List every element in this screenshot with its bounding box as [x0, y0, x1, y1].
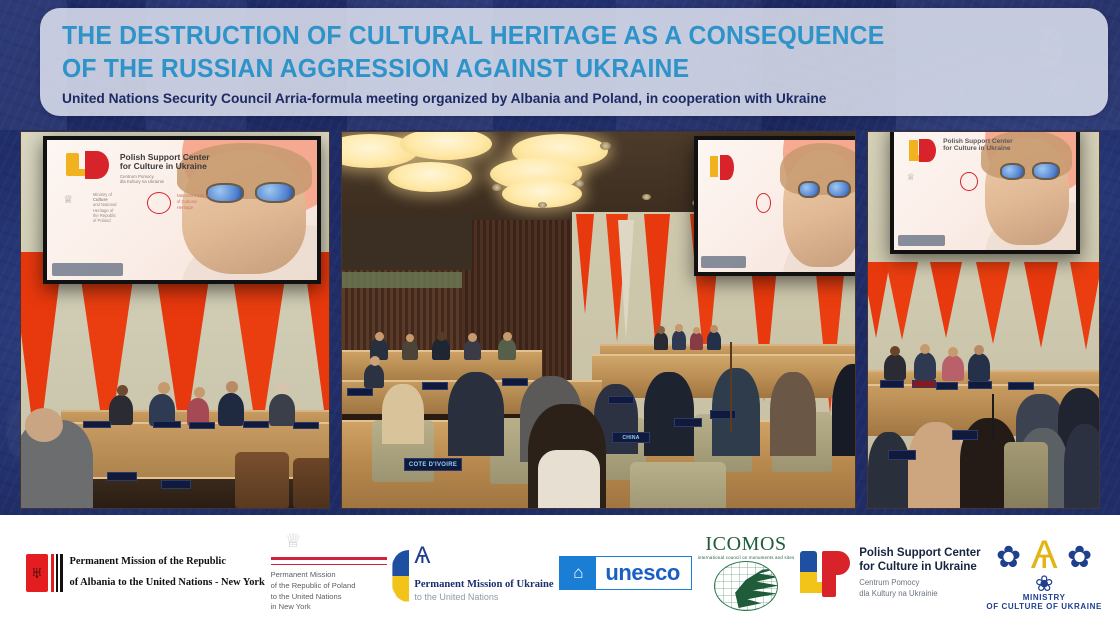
- nameplate-cote-divoire: COTE D'IVOIRE: [404, 458, 462, 471]
- delegate-nameplate: [293, 422, 319, 429]
- upper-wall: [342, 212, 472, 270]
- panelist-head: [693, 327, 700, 334]
- delegate: [402, 340, 418, 360]
- psc-title: Polish Support Center for Culture in Ukr…: [859, 546, 980, 575]
- delegate-nameplate: [243, 421, 269, 428]
- unesco-wordmark: unesco: [596, 557, 691, 589]
- banner-title: THE DESTRUCTION OF CULTURAL HERITAGE AS …: [62, 20, 1077, 85]
- attendee: [770, 372, 816, 456]
- panelist: [942, 355, 964, 381]
- delegate-head: [406, 334, 414, 342]
- banner-title-line1: THE DESTRUCTION OF CULTURAL HERITAGE AS …: [62, 22, 884, 50]
- speaker-glasses-icon: [798, 181, 820, 198]
- icomos-wordmark: ICOMOS: [705, 534, 786, 554]
- unesco-temple-icon: ⌂: [560, 557, 596, 589]
- slide-partner-one: Ministry of Culture and National Heritag…: [93, 192, 117, 224]
- video-name-overlay: [52, 263, 122, 276]
- tryzub-icon: Ѧ: [1031, 535, 1058, 575]
- nameplate-china: CHINA: [612, 432, 650, 443]
- microphone-stand: [730, 342, 732, 432]
- delegate-nameplate: [153, 421, 181, 428]
- delegate-nameplate: [107, 472, 137, 481]
- albania-flag-icon: ♅: [26, 554, 48, 592]
- lp-monogram-icon: [800, 549, 850, 597]
- delegate-nameplate: [912, 380, 936, 388]
- icomos-logo: ICOMOS international council on monument…: [698, 534, 795, 611]
- vine-ornament-icon: ✿: [996, 543, 1021, 573]
- attendee: [868, 432, 910, 509]
- psc-line4: dla Kultury na Ukrainie: [859, 589, 937, 598]
- icomos-leaf-icon: [735, 568, 778, 608]
- attendee: [448, 372, 504, 456]
- psc-line3: Centrum Pomocy: [859, 578, 919, 587]
- ukraine-line2: to the United Nations: [414, 592, 553, 602]
- photo-left: Polish Support Center for Culture in Ukr…: [20, 131, 330, 509]
- vine-ornament-icon: ✿: [1067, 543, 1092, 573]
- delegate: [498, 338, 516, 360]
- poland-mission-logo: ♕ Permanent Mission of the Republic of P…: [271, 532, 387, 613]
- icomos-globe-icon: [714, 561, 778, 611]
- nih-logo-icon: [960, 172, 978, 192]
- presentation-slide: Polish Support Center for Culture in Ukr…: [894, 131, 1076, 250]
- panelist-head: [890, 346, 900, 356]
- video-name-overlay: [898, 235, 945, 246]
- panelist: [672, 330, 686, 350]
- panelist: [914, 352, 936, 380]
- panelist: [690, 332, 703, 350]
- ukraine-flag-arc-icon: [392, 550, 409, 602]
- poland-line4: in New York: [271, 602, 356, 613]
- unesco-logo: ⌂ unesco: [559, 556, 692, 590]
- delegate-nameplate: [936, 382, 958, 390]
- delegate-nameplate: [608, 396, 634, 404]
- vine-ornament-icon: ❀: [1035, 573, 1053, 595]
- delegate-head: [468, 333, 477, 342]
- poland-rule: [271, 557, 387, 560]
- panelist-head: [226, 381, 238, 393]
- chamber-chair: [235, 452, 289, 508]
- panelist: [654, 332, 668, 350]
- delegate-head: [503, 332, 512, 341]
- psc-subtitle: Centrum Pomocy dla Kultury na Ukrainie: [859, 578, 980, 599]
- delegate-nameplate: [189, 422, 215, 429]
- slide-partner-two: National Institute of Cultural Heritage: [177, 193, 210, 210]
- delegate-nameplate: [880, 380, 904, 388]
- photo-strip: Polish Support Center for Culture in Ukr…: [20, 131, 1100, 509]
- panelist-head: [710, 325, 718, 333]
- panelist-head: [948, 347, 958, 357]
- panelist-head: [920, 344, 930, 354]
- attendee-foreground: [538, 450, 600, 509]
- polish-eagle-icon: ♕: [63, 193, 73, 206]
- panelist: [884, 354, 906, 380]
- presentation-slide: [698, 140, 856, 272]
- polish-support-center-logo: Polish Support Center for Culture in Ukr…: [800, 546, 980, 600]
- double-headed-eagle-icon: ♅: [31, 564, 44, 581]
- ceiling-downlight: [538, 202, 547, 208]
- delegate: [364, 364, 384, 388]
- delegate-nameplate: [422, 382, 448, 390]
- delegate-nameplate: [888, 450, 916, 460]
- projection-screen: Polish Support Center for Culture in Ukr…: [890, 131, 1080, 254]
- panelist-head: [158, 382, 170, 394]
- lp-logo-yellow: [710, 156, 719, 177]
- speaker-glasses-icon: [255, 182, 296, 203]
- polish-eagle-icon: ♕: [285, 532, 302, 551]
- nih-logo-icon: [756, 193, 771, 213]
- poland-line3: to the United Nations: [271, 592, 356, 603]
- panelist: [707, 331, 721, 350]
- poland-line1: Permanent Mission: [271, 570, 356, 581]
- panelist: [968, 353, 990, 381]
- delegate-nameplate: [710, 410, 736, 419]
- ceiling-light: [388, 162, 472, 192]
- projection-screen: Polish Support Center for Culture in Ukr…: [43, 136, 321, 284]
- projection-screen: [694, 136, 856, 276]
- delegate-nameplate: [502, 378, 528, 386]
- lp-letter-p-bowl: [830, 551, 850, 575]
- slide-logo-subtitle: Centrum Pomocy dla Kultury na Ukrainie: [120, 174, 164, 185]
- ukraine-mission-logo: Ѧ Permanent Mission of Ukraine to the Un…: [392, 544, 553, 602]
- panelist-head: [194, 387, 205, 398]
- photo-right: Polish Support Center for Culture in Ukr…: [867, 131, 1100, 509]
- albania-logo-bars: [51, 554, 63, 592]
- delegate-head: [370, 356, 380, 366]
- ceiling-downlight: [642, 194, 651, 200]
- albania-line2: of Albania to the United Nations - New Y…: [70, 573, 265, 594]
- video-name-overlay: [701, 256, 745, 268]
- delegate-head: [437, 332, 446, 341]
- panelist-head: [675, 324, 683, 332]
- speaker-glasses-icon: [1000, 163, 1025, 180]
- ministry-line2: OF CULTURE OF UKRAINE: [986, 602, 1102, 611]
- psc-line1: Polish Support Center: [859, 547, 980, 559]
- delegate-nameplate: [968, 381, 992, 389]
- panelist-head: [117, 385, 128, 396]
- panelist: [269, 394, 295, 426]
- panelist: [109, 395, 133, 425]
- delegate-nameplate: [1008, 382, 1034, 390]
- chamber-chair: [630, 462, 726, 509]
- panelist: [218, 393, 244, 426]
- poland-mission-text: Permanent Mission of the Republic of Pol…: [271, 570, 356, 613]
- delegate-nameplate: [347, 388, 373, 396]
- foreground-attendee-head: [25, 408, 63, 442]
- banner-title-line2: OF THE RUSSIAN AGGRESSION AGAINST UKRAIN…: [62, 53, 1077, 86]
- tryzub-icon: Ѧ: [414, 544, 546, 568]
- chamber-drape: [618, 220, 634, 340]
- photo-center: COTE D'IVOIRE CHINA: [341, 131, 856, 509]
- panelist-head: [974, 345, 984, 355]
- delegate: [432, 338, 450, 360]
- albania-mission-logo: ♅ Permanent Mission of the Republic of A…: [26, 552, 265, 594]
- chamber-chair: [1004, 442, 1048, 509]
- panelist-head: [657, 326, 665, 334]
- attendee: [644, 372, 694, 456]
- delegate-nameplate: [161, 480, 191, 489]
- lp-logo-red: [85, 151, 109, 179]
- speaker-glasses-icon: [1032, 162, 1059, 180]
- lp-logo-red: [720, 155, 734, 180]
- albania-mission-text: Permanent Mission of the Republic of Alb…: [70, 552, 265, 594]
- nih-logo-icon: [147, 192, 171, 214]
- lp-logo-red: [919, 139, 935, 162]
- unesco-lockup: ⌂ unesco: [559, 556, 692, 590]
- ministry-of-culture-ukraine-logo: Ѧ ✿ ✿ ❀ MINISTRY OF CULTURE OF UKRAINE: [986, 535, 1102, 611]
- delegate-nameplate: [952, 430, 978, 440]
- poland-line2: of the Republic of Poland: [271, 581, 356, 592]
- ministry-ornament-icon: Ѧ ✿ ✿ ❀: [998, 535, 1090, 591]
- panelist-head: [277, 382, 289, 394]
- ceiling-downlight: [574, 180, 584, 187]
- slide-logo-title: Polish Support Center for Culture in Ukr…: [120, 153, 210, 173]
- psc-line2: for Culture in Ukraine: [859, 561, 977, 573]
- delegate-head: [375, 332, 384, 341]
- icomos-tagline: international council on monuments and s…: [698, 555, 795, 560]
- delegate: [464, 339, 481, 360]
- ceiling-downlight: [600, 142, 611, 150]
- banner-subtitle: United Nations Security Council Arria-fo…: [62, 91, 1077, 107]
- delegate-nameplate: [674, 418, 702, 427]
- polish-eagle-icon: ♕: [907, 172, 915, 183]
- slide-logo-title: Polish Support Center for Culture in Ukr…: [943, 138, 1013, 153]
- albania-line1: Permanent Mission of the Republic: [70, 552, 265, 573]
- speaker-glasses-icon: [206, 183, 244, 203]
- attendee: [382, 384, 424, 444]
- partner-logo-bar: ♅ Permanent Mission of the Republic of A…: [0, 515, 1120, 630]
- title-banner: THE DESTRUCTION OF CULTURAL HERITAGE AS …: [40, 8, 1108, 116]
- presentation-slide: Polish Support Center for Culture in Ukr…: [47, 140, 317, 280]
- microphone-stand: [992, 394, 994, 442]
- speaker-glasses-icon: [827, 180, 851, 198]
- delegate-nameplate: [83, 421, 111, 428]
- ukraine-line1: Permanent Mission of Ukraine: [414, 579, 553, 590]
- ceiling-downlight: [492, 184, 502, 191]
- attendee: [1064, 424, 1100, 509]
- chamber-chair: [293, 458, 330, 508]
- poland-rule: [271, 564, 387, 565]
